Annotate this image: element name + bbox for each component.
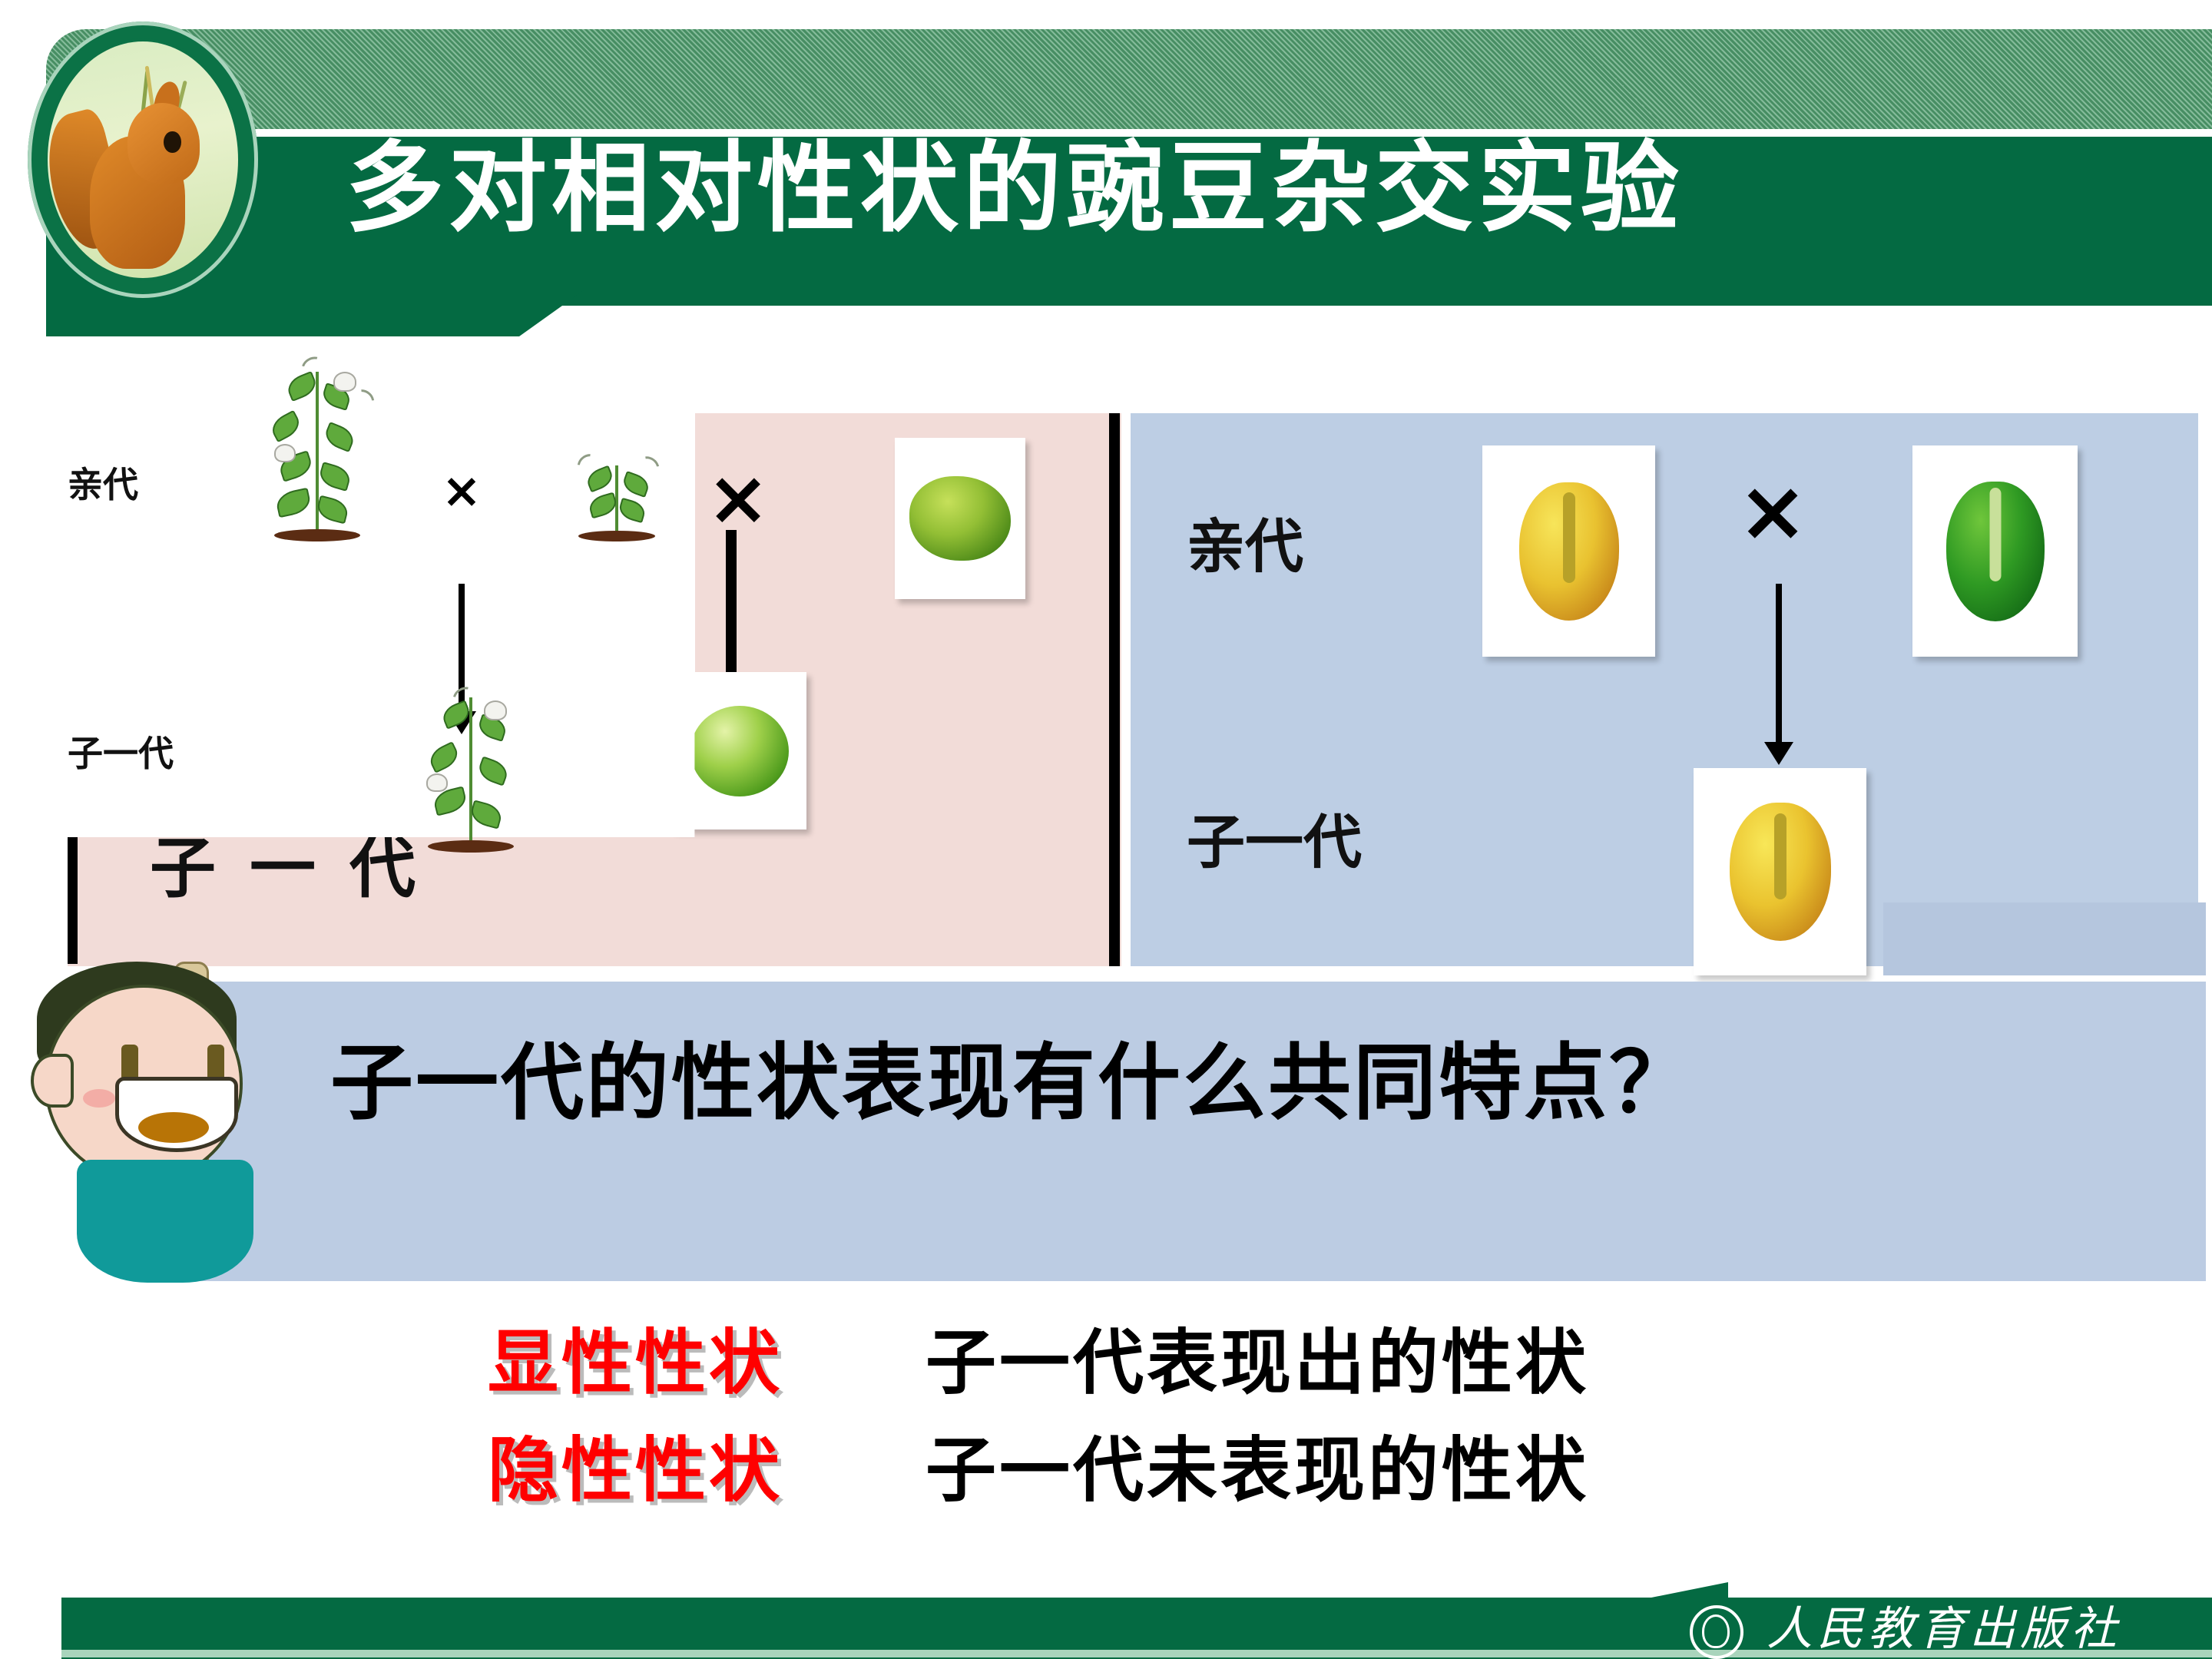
squirrel-logo (28, 22, 258, 298)
leaf-icon (322, 421, 357, 452)
leaf-icon (469, 800, 504, 829)
boy-shirt (77, 1160, 253, 1283)
soil-mound (428, 840, 514, 853)
right-f1-label: 子一代 (1187, 795, 1362, 879)
squirrel-eye-icon (164, 131, 180, 153)
leaf-icon (317, 462, 353, 492)
cartoon-boy-icon (23, 962, 307, 1292)
boy-cheek (83, 1089, 115, 1108)
f1-pea-plant-illustration (406, 687, 536, 853)
panel-divider-rule (1109, 413, 1120, 966)
plant-cross-symbol: × (442, 467, 482, 515)
tall-pea-plant-illustration (250, 361, 384, 541)
short-pea-plant-illustration (567, 453, 667, 541)
boy-eye (121, 1045, 138, 1081)
recessive-trait-term: 隐性性状 (488, 1413, 783, 1515)
page-title: 多对相对性状的豌豆杂交实验 (346, 115, 2020, 261)
flower-icon (484, 700, 507, 720)
boy-tongue (138, 1112, 209, 1143)
publisher-name: 人民教育出版社 (1767, 1602, 2181, 1656)
left-panel-left-rule (68, 818, 78, 964)
seed-split-line (1563, 492, 1575, 583)
pep-logo-leaf-icon (1702, 1614, 1730, 1648)
header-notch-shape (46, 290, 584, 336)
right-parent-label: 亲代 (1187, 499, 1303, 584)
question-text: 子一代的性状表现有什么共同特点？ (330, 1029, 2097, 1137)
right-parent-green-seed-photo (1912, 445, 2078, 657)
flower-icon (426, 773, 448, 792)
squirrel-logo-inner (48, 41, 238, 278)
leaf-icon (617, 498, 647, 523)
right-f1-yellow-seed-photo (1694, 768, 1866, 975)
leaf-icon (476, 756, 511, 786)
soil-mound (578, 531, 655, 541)
recessive-trait-description: 子一代未表现的性状 (926, 1413, 1589, 1515)
leaf-icon (426, 741, 461, 773)
left-cross-symbol: × (707, 461, 770, 536)
leaf-icon (587, 492, 619, 519)
leaf-icon (268, 409, 304, 442)
seed-split-line (1989, 488, 2001, 581)
plant-stem (469, 697, 472, 843)
flower-icon (274, 444, 296, 462)
left-f1-label: 子一代 (68, 726, 174, 777)
left-parent-label: 亲代 (68, 457, 138, 508)
header-stripe-band (46, 29, 2212, 129)
flower-icon (333, 372, 356, 392)
boy-ear (31, 1054, 74, 1108)
dominant-trait-description: 子一代表现出的性状 (926, 1306, 1589, 1408)
leaf-icon (315, 495, 350, 524)
soil-mound (274, 529, 360, 541)
left-parent-wrinkled-seed-photo (895, 438, 1025, 599)
dominant-trait-term: 显性性状 (488, 1306, 783, 1408)
leaf-icon (274, 488, 312, 518)
right-cross-symbol: × (1737, 469, 1808, 553)
right-parent-yellow-seed-photo (1482, 445, 1655, 657)
seed-split-line (1774, 813, 1786, 899)
round-pea-icon (690, 706, 789, 796)
wrinkled-pea-icon (909, 476, 1011, 561)
right-panel-shadow (1883, 902, 2206, 975)
boy-eye (207, 1045, 224, 1081)
right-cross-arrow (1776, 584, 1782, 745)
